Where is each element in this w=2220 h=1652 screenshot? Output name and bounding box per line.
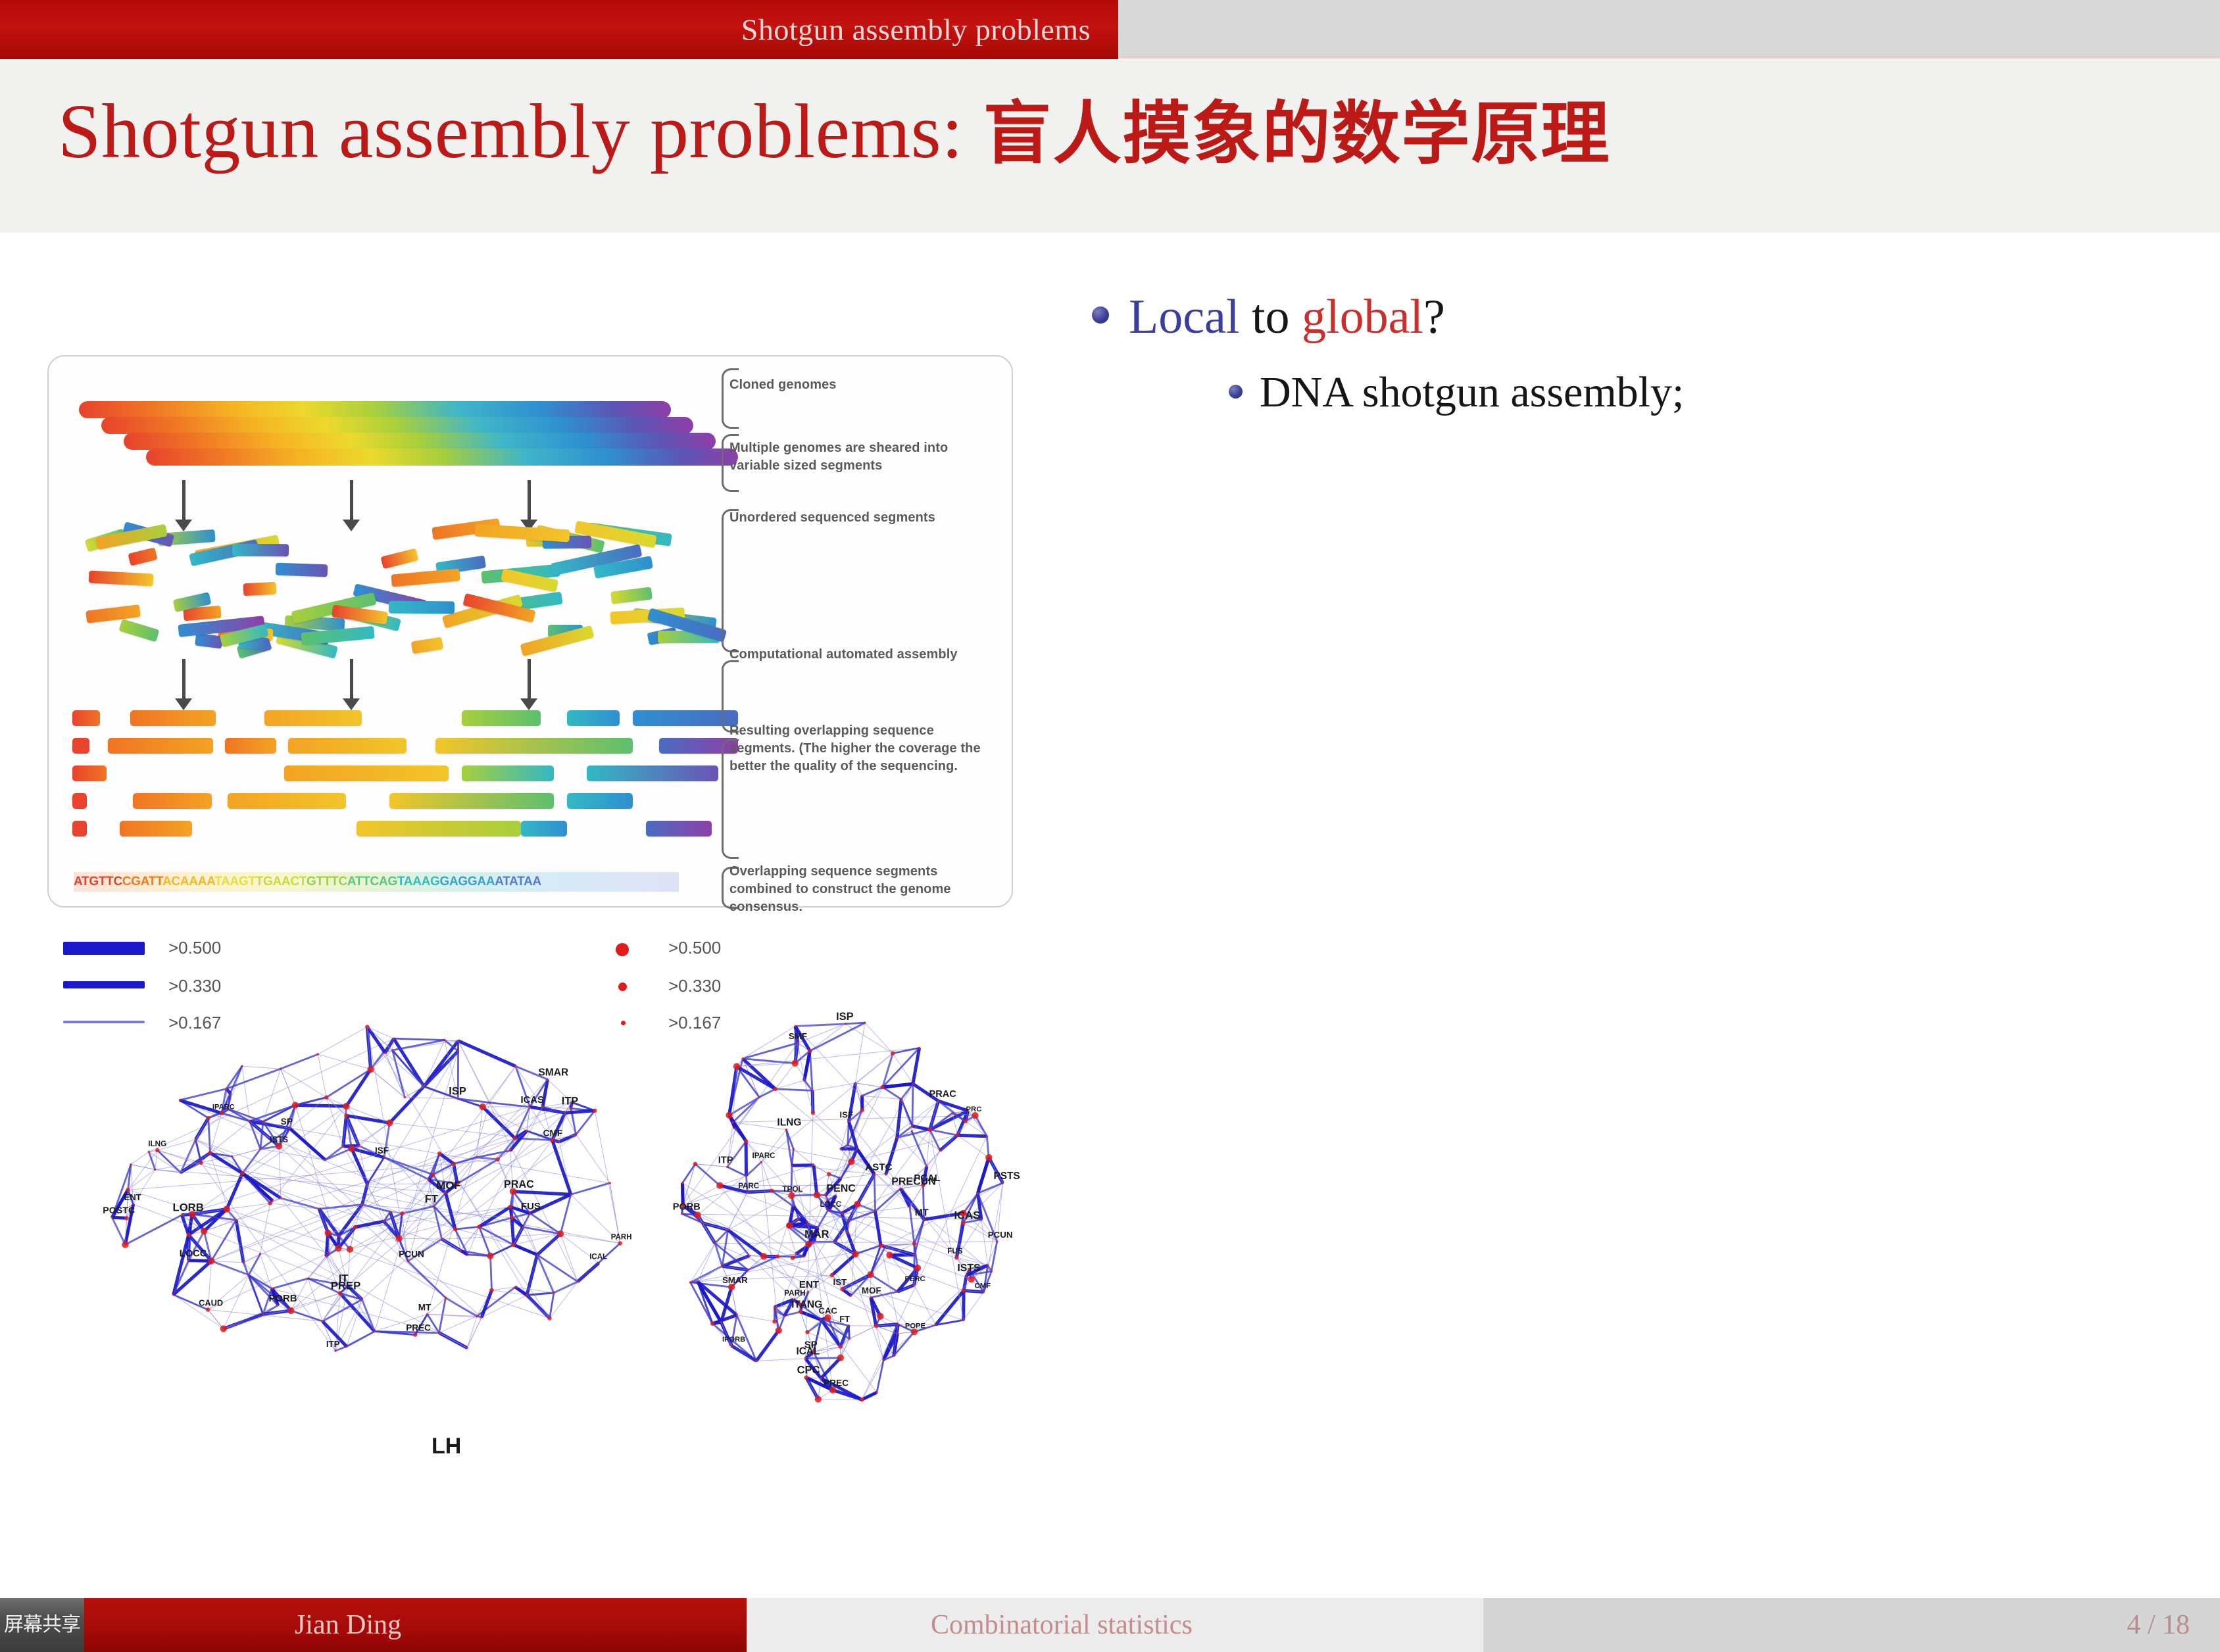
network-node-label: ITP: [326, 1339, 340, 1349]
network-node: [900, 1098, 902, 1100]
network-node: [550, 1138, 554, 1142]
consensus-base: A: [282, 875, 290, 888]
network-edge: [595, 1111, 620, 1244]
bullet-word-local: Local: [1129, 290, 1239, 344]
network-node: [731, 1121, 733, 1123]
network-node: [457, 1040, 459, 1042]
network-node: [774, 1310, 776, 1312]
network-node-label: PARH: [611, 1234, 632, 1242]
cloned-genome-bar: [101, 417, 693, 434]
network-node: [923, 1219, 925, 1221]
network-node: [466, 1347, 468, 1349]
process-arrow-icon: [528, 480, 531, 521]
consensus-base: T: [517, 875, 524, 888]
consensus-base: A: [141, 875, 149, 888]
network-edge: [936, 1291, 964, 1325]
assembled-contig-segment: [357, 821, 521, 837]
network-edge: [683, 1164, 696, 1183]
network-node-label: PORB: [269, 1294, 297, 1304]
network-edge: [513, 1192, 571, 1195]
network-edge: [537, 1234, 560, 1255]
network-edge: [876, 1326, 884, 1360]
network-edge: [841, 1174, 874, 1178]
network-edge: [318, 1027, 367, 1054]
network-node: [885, 1173, 887, 1175]
sub-bullet-dot-icon: [1229, 385, 1243, 399]
network-node: [774, 1087, 777, 1091]
network-edge: [743, 1059, 795, 1063]
consensus-base: T: [316, 875, 324, 888]
network-edge: [408, 1261, 445, 1298]
network-node: [847, 1144, 849, 1146]
network-node: [839, 1345, 843, 1349]
network-node: [918, 1047, 920, 1049]
network-node: [854, 1082, 856, 1084]
network-node: [697, 1280, 699, 1282]
network-edge: [514, 1245, 537, 1255]
network-edge: [553, 1140, 571, 1195]
network-node: [365, 1025, 369, 1029]
network-node: [962, 1319, 964, 1321]
assembled-contig-segment: [435, 738, 633, 754]
network-node-label: POSTC: [103, 1205, 135, 1216]
network-node-label: PENC: [826, 1183, 856, 1194]
network-node-label: POPE: [905, 1322, 926, 1330]
consensus-base: A: [162, 875, 171, 888]
network-node: [344, 1113, 348, 1117]
network-edge: [242, 1066, 281, 1069]
consensus-base: G: [131, 875, 140, 888]
network-node: [985, 1154, 992, 1161]
consensus-base: A: [404, 875, 412, 888]
assembled-contig-segment: [72, 821, 87, 837]
assembled-contig-segment: [133, 793, 212, 809]
network-node-label: TPOL: [782, 1185, 802, 1194]
network-node: [575, 1133, 577, 1135]
process-arrow-icon: [350, 659, 353, 700]
consensus-base: A: [379, 875, 387, 888]
network-node: [954, 1255, 958, 1259]
assembled-contig-segment: [228, 793, 346, 809]
consensus-base: G: [430, 875, 439, 888]
network-node-label: ISTS: [957, 1263, 980, 1274]
network-node: [395, 1235, 402, 1242]
network-node: [324, 1159, 326, 1161]
network-node: [734, 1127, 736, 1129]
network-node-label: PARC: [738, 1182, 760, 1190]
network-node: [804, 1357, 806, 1359]
shotgun-diagram-graphics: [67, 363, 699, 902]
network-node: [240, 1171, 244, 1175]
network-node: [353, 1225, 357, 1229]
consensus-base: T: [331, 875, 338, 888]
consensus-base: G: [387, 875, 397, 888]
network-node: [755, 1360, 757, 1362]
network-node: [726, 1166, 728, 1168]
network-node: [791, 1256, 795, 1260]
network-edge: [991, 1242, 997, 1271]
network-node: [911, 1130, 913, 1132]
network-node-label: CAUD: [199, 1298, 223, 1308]
assembled-contig-segment: [587, 765, 718, 781]
network-node: [292, 1102, 299, 1108]
consensus-base: T: [156, 875, 162, 888]
network-edge: [927, 1130, 930, 1167]
network-edge: [862, 1087, 883, 1096]
network-edge: [131, 1152, 149, 1164]
network-node: [681, 1182, 683, 1184]
network-node: [509, 1150, 511, 1152]
network-edge: [224, 1305, 278, 1329]
shotgun-assembly-diagram: Cloned genomesMultiple genomes are shear…: [47, 355, 1013, 908]
cloned-genome-bar: [79, 401, 671, 418]
network-node: [792, 1060, 799, 1067]
network-node: [358, 1145, 360, 1147]
network-node: [489, 1288, 493, 1292]
network-edge: [210, 1121, 250, 1153]
network-node-label: ICAL: [589, 1253, 607, 1261]
network-node-label: PERC: [905, 1275, 925, 1283]
network-node-label: LOCC: [180, 1249, 207, 1259]
network-edge: [792, 1165, 814, 1166]
network-node: [541, 1106, 543, 1108]
network-edge: [468, 1227, 479, 1255]
network-node-label: ISF: [839, 1109, 853, 1119]
network-node: [437, 1152, 441, 1155]
network-edge: [211, 1220, 236, 1261]
network-node: [208, 1151, 212, 1155]
network-node: [911, 1125, 913, 1127]
network-node-label: ITANG: [791, 1300, 822, 1311]
consensus-base: T: [256, 875, 263, 888]
network-edge: [958, 1135, 989, 1157]
network-node: [508, 1205, 512, 1209]
network-node: [172, 1294, 174, 1296]
consensus-sequence-strip: ATGTTCCGATTACAAAATAAGTTGAACTGTTTCATTCAGT…: [74, 872, 679, 892]
network-node: [897, 1332, 899, 1334]
network-node: [130, 1163, 132, 1165]
diagram-step-label: Computational automated assembly: [729, 646, 986, 664]
network-node: [783, 1315, 785, 1317]
assembled-contig-segment: [521, 821, 567, 837]
network-node-label: PRAC: [929, 1089, 957, 1100]
network-edge: [458, 1041, 516, 1067]
network-node: [529, 1105, 531, 1107]
network-node: [774, 1306, 776, 1308]
network-node: [962, 1288, 966, 1292]
network-node: [874, 1173, 876, 1175]
network-node: [609, 1182, 611, 1184]
network-node: [598, 1262, 600, 1264]
network-edge: [394, 1038, 445, 1040]
network-node-label: IPARC: [212, 1104, 235, 1111]
presentation-slide: Shotgun assembly problems Shotgun assemb…: [0, 0, 2220, 1652]
network-node: [803, 1079, 805, 1081]
network-node: [593, 1109, 597, 1113]
network-node: [744, 1139, 748, 1143]
network-edge: [281, 1069, 295, 1105]
network-node-label: MT: [915, 1207, 929, 1218]
network-edge: [793, 1149, 814, 1165]
network-node: [758, 1096, 760, 1098]
network-node-label: PREC: [824, 1378, 849, 1388]
network-node: [343, 1103, 349, 1109]
network-edge: [368, 1184, 384, 1221]
network-node: [848, 1324, 850, 1326]
network-node: [730, 1345, 732, 1347]
network-edge: [565, 1111, 595, 1113]
network-node: [460, 1250, 462, 1251]
network-edge: [910, 1185, 923, 1207]
network-node: [955, 1133, 959, 1137]
network-node: [512, 1243, 516, 1247]
consensus-base: A: [221, 875, 230, 888]
network-edge: [550, 1282, 578, 1319]
network-edge: [260, 1203, 270, 1254]
network-edge: [295, 1105, 347, 1107]
network-node: [328, 1252, 330, 1254]
shotgun-diagram-labels: Cloned genomesMultiple genomes are shear…: [729, 356, 1006, 909]
sequence-fragment: [194, 633, 222, 649]
network-edge: [756, 1359, 806, 1361]
network-node: [861, 1095, 863, 1097]
network-edge: [910, 1207, 914, 1244]
network-node: [180, 1171, 182, 1173]
network-node: [840, 1177, 842, 1179]
network-node: [805, 1330, 809, 1334]
network-node-label: PRAC: [504, 1178, 534, 1190]
network-edge: [856, 1246, 881, 1255]
network-node: [445, 1297, 447, 1299]
network-node: [220, 1325, 227, 1332]
network-edge: [810, 1024, 845, 1051]
network-node-label: ICAL: [797, 1346, 820, 1357]
network-node: [220, 1111, 224, 1115]
network-edge: [776, 1063, 795, 1089]
assembled-contig-segment: [389, 793, 554, 809]
network-node-label: FUS: [521, 1201, 541, 1212]
network-node: [318, 1208, 320, 1210]
network-node: [900, 1188, 902, 1190]
network-node: [476, 1315, 478, 1317]
network-node: [726, 1112, 732, 1119]
network-node: [776, 1254, 779, 1258]
assembled-contig-segment: [225, 738, 276, 754]
network-node: [570, 1107, 572, 1109]
network-node: [833, 1241, 835, 1243]
network-node-label: ILNG: [777, 1117, 801, 1129]
network-node: [374, 1330, 376, 1332]
network-node: [280, 1068, 282, 1070]
network-node: [1002, 1182, 1004, 1184]
network-node: [335, 1245, 341, 1251]
network-node: [968, 1276, 975, 1282]
network-node: [438, 1332, 440, 1334]
network-node: [689, 1281, 691, 1283]
network-node: [721, 1265, 723, 1267]
network-node: [735, 1314, 737, 1316]
network-node: [342, 1145, 344, 1147]
network-node-label: PARH: [784, 1288, 806, 1298]
network-node: [407, 1260, 408, 1262]
network-node-label: SMF: [789, 1031, 807, 1041]
network-node: [897, 1290, 899, 1292]
network-node: [487, 1253, 493, 1259]
network-node: [426, 1313, 428, 1315]
network-edge: [208, 1310, 224, 1329]
network-node: [272, 1200, 274, 1202]
network-node: [983, 1291, 985, 1293]
network-edge: [243, 1146, 280, 1173]
network-node: [529, 1212, 531, 1214]
network-node-label: ENT: [124, 1192, 141, 1202]
network-node: [785, 1129, 787, 1130]
network-edge: [242, 1066, 250, 1121]
consensus-base: G: [89, 875, 98, 888]
assembled-contig-segment: [462, 765, 554, 781]
window-header-title: Shotgun assembly problems: [741, 12, 1091, 47]
network-edge: [964, 1292, 984, 1321]
network-node: [925, 1165, 927, 1167]
network-node: [811, 1111, 815, 1115]
network-edge: [576, 1111, 595, 1134]
network-edge: [737, 1315, 774, 1322]
network-node: [820, 1377, 822, 1379]
network-edge: [560, 1234, 578, 1282]
page-title-chinese: 盲人摸象的数学原理: [983, 93, 1611, 174]
network-edge: [371, 1069, 405, 1098]
network-node-label: FT: [425, 1192, 439, 1205]
network-node: [466, 1253, 468, 1255]
network-node: [710, 1322, 714, 1326]
network-node: [727, 1229, 729, 1231]
network-node-label: IPARC: [752, 1152, 776, 1160]
consensus-base: T: [299, 875, 307, 888]
network-node: [939, 1150, 941, 1152]
network-node: [489, 1102, 491, 1104]
network-node: [428, 1178, 430, 1180]
network-node: [558, 1141, 560, 1143]
network-node: [452, 1161, 456, 1165]
window-header-filler: [1118, 0, 2220, 57]
assembled-contig-segment: [108, 738, 213, 754]
network-node: [289, 1127, 291, 1129]
network-node: [877, 1313, 883, 1319]
consensus-base: G: [468, 875, 477, 888]
assembled-contig-segment: [72, 738, 89, 754]
diagram-step-label: Multiple genomes are sheared into variab…: [729, 439, 986, 475]
consensus-base: G: [458, 875, 467, 888]
consensus-base: T: [82, 875, 89, 888]
network-edge: [818, 1399, 862, 1400]
network-node: [991, 1271, 993, 1273]
network-node: [849, 1338, 851, 1340]
process-arrow-icon: [350, 480, 353, 521]
network-node: [856, 1148, 858, 1150]
screen-share-indicator[interactable]: 屏幕共享: [0, 1598, 84, 1652]
network-node: [230, 1093, 232, 1095]
network-node: [694, 1211, 701, 1218]
network-edge: [981, 1220, 988, 1265]
sequence-fragment: [119, 619, 159, 642]
network-edge: [792, 1149, 794, 1165]
network-edge: [550, 1293, 554, 1319]
network-node: [361, 1298, 363, 1300]
network-edge: [806, 1358, 841, 1359]
network-edge: [958, 1135, 987, 1136]
network-node: [480, 1104, 486, 1110]
network-edge: [728, 1167, 747, 1176]
network-node-label: PRC: [966, 1105, 982, 1113]
network-node: [389, 1211, 391, 1213]
network-node: [618, 1241, 622, 1245]
network-node: [812, 1164, 814, 1166]
network-node: [914, 1265, 921, 1271]
network-node: [457, 1050, 459, 1052]
network-node: [347, 1246, 353, 1253]
network-edge: [318, 1054, 370, 1069]
network-node: [476, 1156, 478, 1158]
network-node: [324, 1096, 328, 1100]
consensus-base: C: [338, 875, 347, 888]
network-node: [317, 1053, 319, 1055]
network-edge: [227, 1173, 243, 1209]
network-edge: [155, 1169, 446, 1192]
network-node: [361, 1203, 363, 1205]
network-node: [795, 1253, 797, 1255]
network-node: [776, 1327, 782, 1334]
network-node: [457, 1098, 459, 1100]
network-node-label: MAR: [804, 1228, 829, 1240]
network-node: [325, 1255, 327, 1257]
network-node: [513, 1136, 517, 1140]
network-node: [716, 1182, 723, 1189]
network-node: [839, 1148, 841, 1150]
consensus-base: A: [272, 875, 281, 888]
network-node: [477, 1225, 481, 1228]
network-node: [893, 1355, 895, 1357]
network-node-label: MOF: [436, 1179, 460, 1192]
cloned-genome-bar: [146, 449, 738, 466]
network-node: [837, 1354, 844, 1361]
network-node: [334, 1349, 336, 1351]
network-node-label: ISF: [375, 1146, 389, 1155]
network-node: [577, 1280, 579, 1282]
network-node: [702, 1222, 704, 1224]
network-node: [881, 1085, 885, 1089]
network-edge: [776, 1081, 804, 1089]
network-edge: [897, 1100, 901, 1138]
network-node: [912, 1242, 916, 1246]
network-edge: [890, 1255, 918, 1269]
assembled-contig-segment: [120, 821, 192, 837]
network-node: [848, 1121, 850, 1123]
network-node: [383, 1220, 385, 1222]
network-node: [514, 1286, 516, 1288]
network-node: [720, 1321, 722, 1323]
consensus-base: A: [509, 875, 517, 888]
network-edge: [260, 1122, 263, 1150]
network-edge: [576, 1134, 610, 1183]
consensus-base: A: [207, 875, 214, 888]
network-node: [883, 1359, 885, 1361]
bullet-word-global: global: [1302, 290, 1423, 344]
assembled-contig-segment: [284, 765, 449, 781]
assembled-contig-segment: [130, 710, 216, 726]
network-edge: [455, 1227, 479, 1229]
network-node: [345, 1346, 347, 1348]
network-node-label: ISTS: [270, 1135, 288, 1144]
